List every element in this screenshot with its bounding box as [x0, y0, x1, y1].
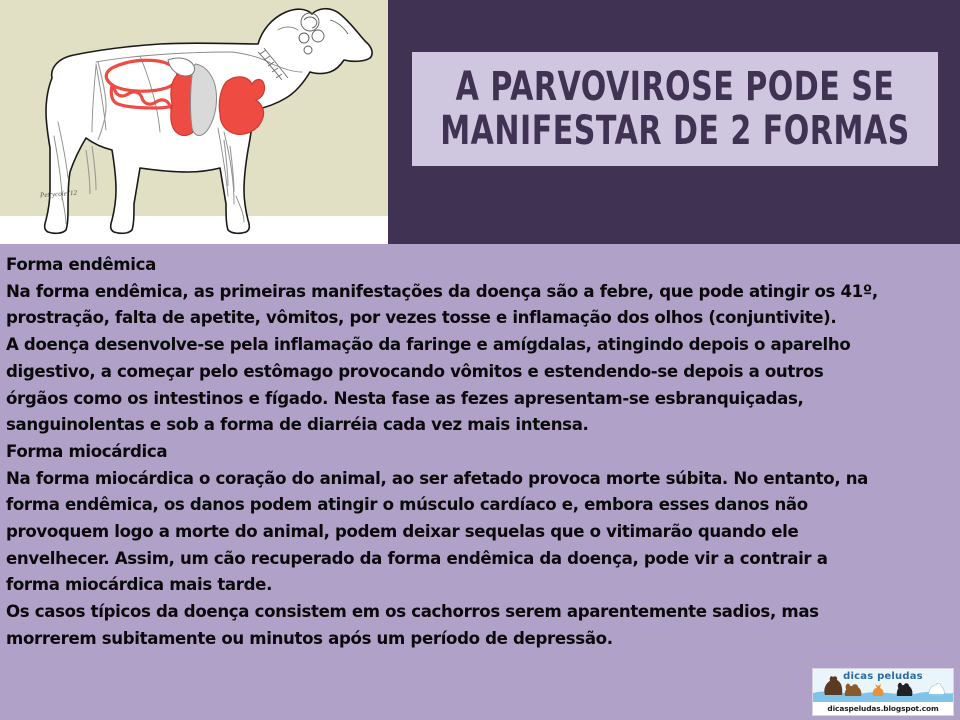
title-line-2: MANIFESTAR DE 2 FORMAS — [433, 103, 916, 159]
poster-root: Petrycole '12 A PARVOVIROSE PODE SE MANI… — [0, 0, 960, 720]
logo-url[interactable]: dicaspeludas.blogspot.com — [813, 702, 953, 715]
body-line: Os casos típicos da doença consistem em … — [6, 599, 921, 626]
body-line: envelhecer. Assim, um cão recuperado da … — [6, 546, 921, 573]
body-line: sanguinolentas e sob a forma de diarréia… — [6, 412, 921, 439]
blog-logo[interactable]: dicas peludas dicaspeludas.blogspot.com — [812, 668, 954, 716]
body-line: provoquem logo a morte do animal, podem … — [6, 519, 921, 546]
body-line: digestivo, a começar pelo estômago provo… — [6, 359, 921, 386]
logo-wordmark: dicas peludas — [813, 671, 953, 682]
body-line: Na forma endêmica, as primeiras manifest… — [6, 279, 921, 306]
body-line: prostração, falta de apetite, vômitos, p… — [6, 305, 921, 332]
body-line: órgãos como os intestinos e fígado. Nest… — [6, 386, 921, 413]
body-line: Na forma miocárdica o coração do animal,… — [6, 466, 921, 493]
body-line: morrerem subitamente ou minutos após um … — [6, 626, 921, 653]
dog-anatomy-illustration: Petrycole '12 — [0, 0, 388, 244]
poster-title-box: A PARVOVIROSE PODE SE MANIFESTAR DE 2 FO… — [412, 52, 938, 166]
body-line: A doença desenvolve-se pela inflamação d… — [6, 332, 921, 359]
section-heading-miocardica: Forma miocárdica — [6, 439, 921, 466]
section-heading-endemica: Forma endêmica — [6, 252, 921, 279]
dog-anatomy-svg — [0, 0, 388, 244]
body-line: forma miocárdica mais tarde. — [6, 572, 921, 599]
logo-banner: dicas peludas — [813, 669, 953, 702]
body-line: forma endêmica, os danos podem atingir o… — [6, 492, 921, 519]
body-text-area: Forma endêmica Na forma endêmica, as pri… — [0, 244, 960, 720]
